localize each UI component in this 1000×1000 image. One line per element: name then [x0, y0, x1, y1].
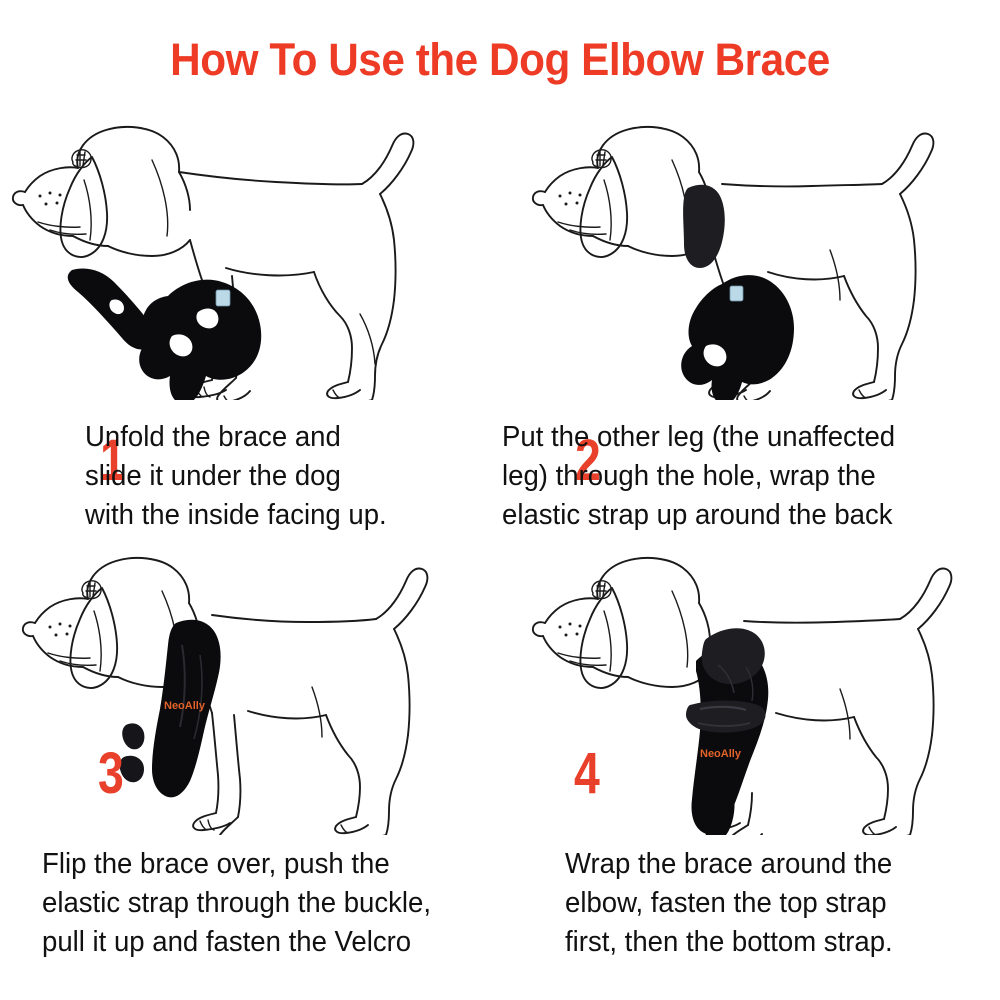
- brace-strap-over-back-2: [681, 185, 794, 400]
- step-caption-1: Unfold the brace and slide it under the …: [85, 418, 484, 535]
- step-panel-4: NeoAlly 4 Wrap the brace around the elbo…: [500, 535, 1000, 1000]
- step-panel-1: 1 Unfold the brace and slide it under th…: [0, 100, 500, 570]
- step-panel-3: NeoAlly 3 Flip the brace over, push the …: [0, 535, 500, 1000]
- brand-logo-4: NeoAlly: [700, 748, 742, 760]
- step-panel-2: 2 Put the other leg (the unaffected leg)…: [500, 100, 1000, 570]
- brace-flipped-3: NeoAlly: [120, 620, 221, 798]
- step-caption-2: Put the other leg (the unaffected leg) t…: [502, 418, 949, 535]
- brace-unfolded-1: [68, 269, 261, 401]
- illustration-step-2: [500, 100, 1000, 400]
- dog-outline-3: [23, 558, 428, 835]
- brace-fastened-4: NeoAlly: [686, 628, 768, 835]
- illustration-step-3: NeoAlly: [0, 535, 500, 835]
- brand-logo-3: NeoAlly: [164, 700, 206, 712]
- page-title: How To Use the Dog Elbow Brace: [30, 34, 970, 86]
- instructional-poster: How To Use the Dog Elbow Brace: [0, 0, 1000, 1000]
- step-number-4: 4: [574, 745, 600, 803]
- step-caption-4: Wrap the brace around the elbow, fasten …: [565, 845, 983, 962]
- illustration-step-1: [0, 100, 500, 400]
- step-number-3: 3: [98, 745, 124, 803]
- step-caption-3: Flip the brace over, push the elastic st…: [42, 845, 470, 962]
